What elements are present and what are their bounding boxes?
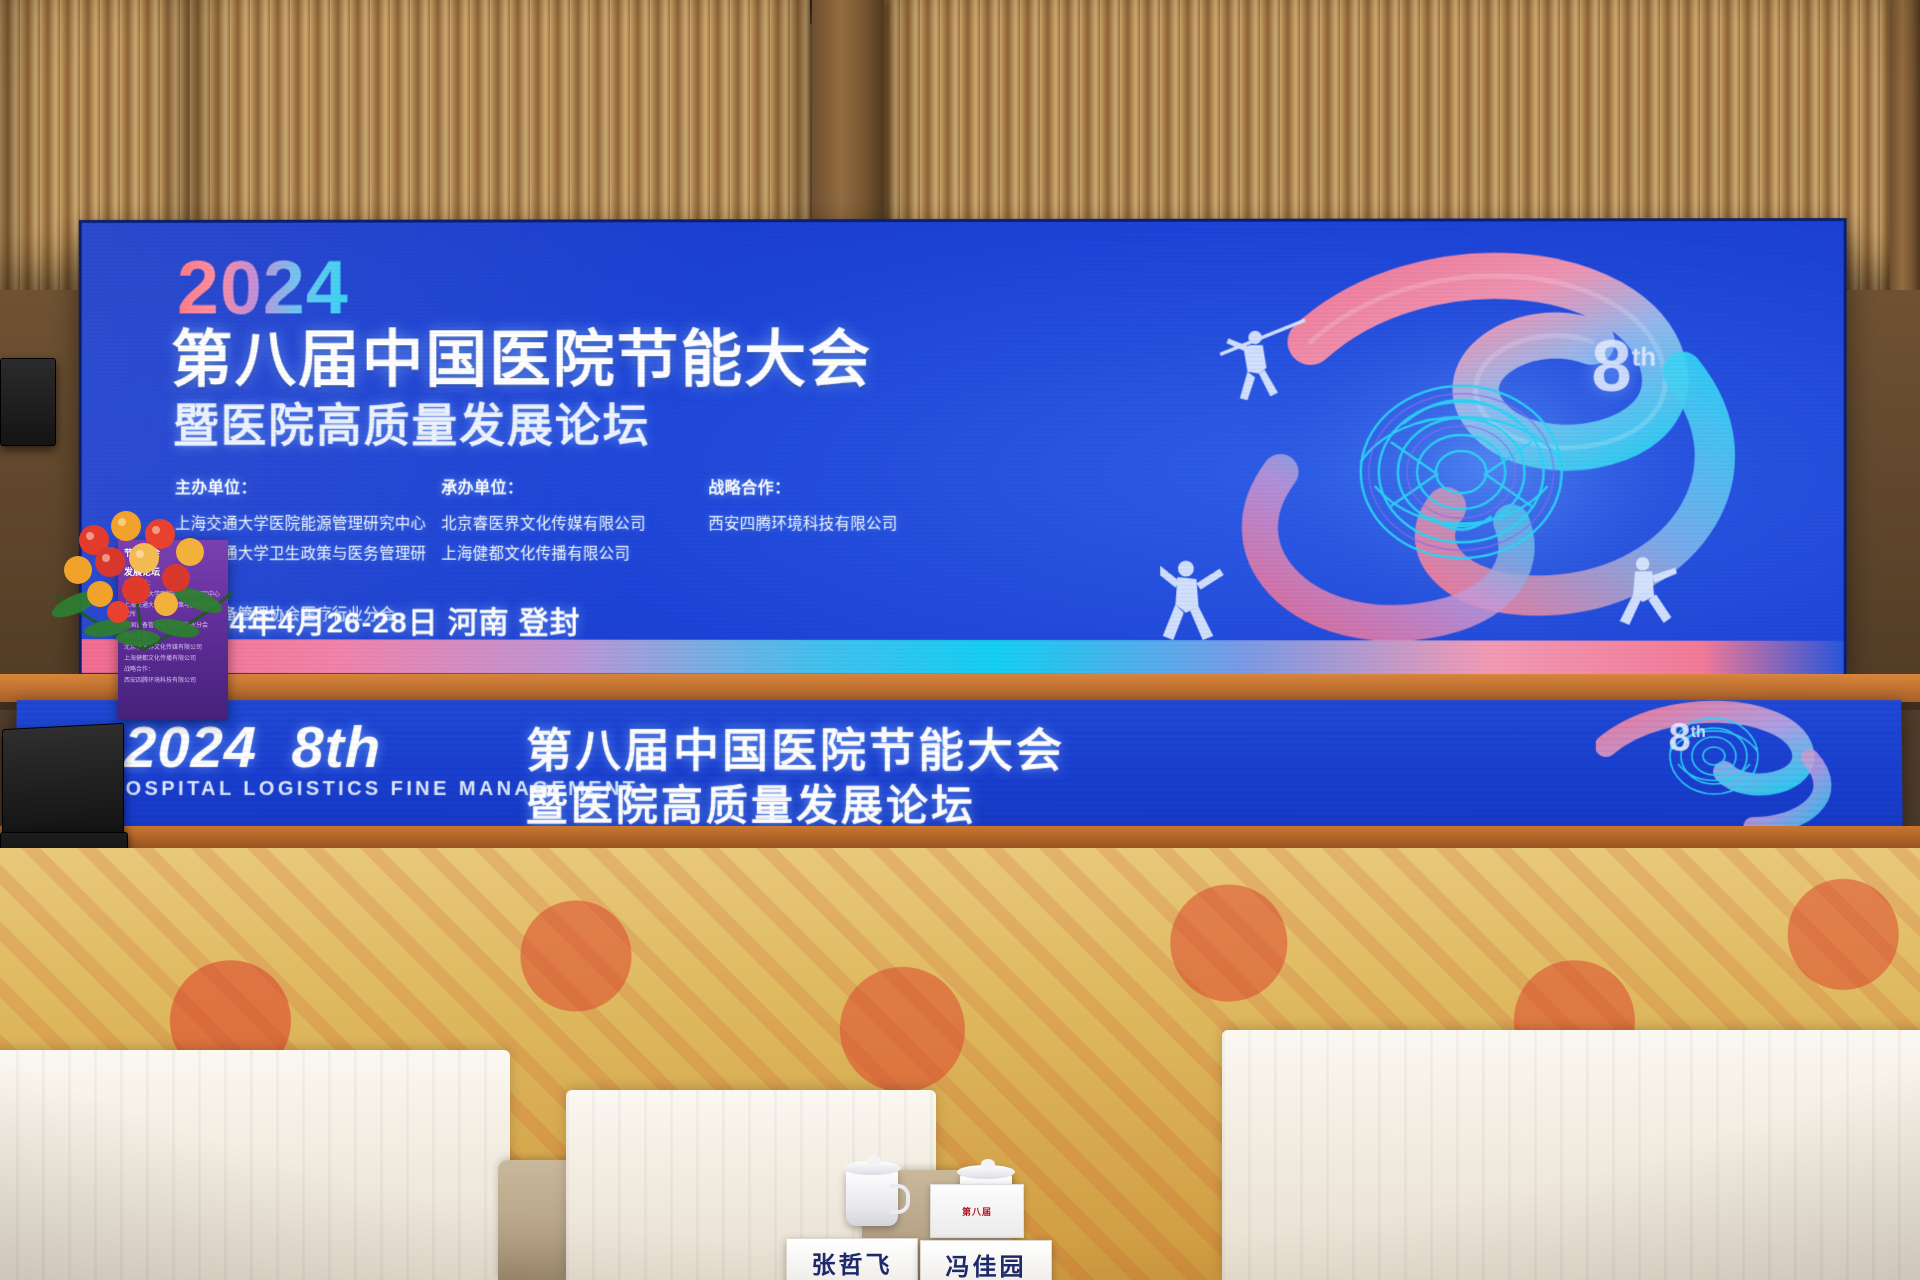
name-card-2-text: 冯佳园 <box>946 1247 1027 1280</box>
skirt-title-line1: 第八届中国医院节能大会 <box>526 714 1065 780</box>
banquet-table-right <box>1222 1030 1920 1280</box>
teacup-knob <box>981 1159 995 1169</box>
speaker-cabinet-wall <box>0 358 56 446</box>
branded-table-card: 第八届 <box>930 1184 1024 1238</box>
teacup-knob <box>867 1155 881 1165</box>
name-card-2: 冯佳园 <box>920 1240 1052 1280</box>
skirt-ribbon-artwork <box>1596 700 1897 830</box>
organizer-column-strategic: 战略合作： 西安四腾环境科技有限公司 <box>708 474 958 631</box>
banquet-table-left <box>0 1050 510 1280</box>
organizer-line: 上海健都文化传播有限公司 <box>441 540 708 570</box>
wall-pillar-right <box>1890 0 1920 300</box>
teacup-left <box>846 1168 898 1226</box>
stage-skirt-banner: 2024 8th HOSPITAL LOGISTICS FINE MANAGEM… <box>15 700 1902 830</box>
screen-bottom-color-band <box>82 639 1844 675</box>
event-year: 2024 <box>177 251 349 327</box>
name-card-1: 张哲飞 <box>786 1238 918 1280</box>
skirt-year: 2024 <box>124 715 258 780</box>
organizer-line: 西安四腾环境科技有限公司 <box>708 510 958 540</box>
skirt-title-line2: 暨医院高质量发展论坛 <box>526 772 976 830</box>
skirt-edition-suffix: th <box>1691 724 1706 741</box>
stage-front-edge <box>0 674 1920 702</box>
branded-table-card-label: 第八届 <box>962 1205 992 1218</box>
event-title-main: 第八届中国医院节能大会 <box>171 330 872 392</box>
organizer-heading-host: 主办单位： <box>175 474 441 498</box>
organizer-line: 北京睿医界文化传媒有限公司 <box>441 510 708 540</box>
conference-stage-photo: 8th 2024 第八届中国医院节能大会 暨医院高质量发展论坛 主办单位： 上海… <box>0 0 1920 1280</box>
organizer-heading-coorganizer: 承办单位： <box>441 474 708 498</box>
skirt-year-edition: 2024 8th <box>124 714 382 781</box>
organizer-heading-strategic: 战略合作： <box>708 474 958 498</box>
skirt-edition-badge: 8th <box>1668 716 1706 761</box>
poster-line: 战略合作： <box>124 666 222 675</box>
skirt-edition-number: 8 <box>1668 716 1691 760</box>
floral-arrangement <box>48 500 238 660</box>
name-card-1-text: 张哲飞 <box>812 1245 893 1280</box>
poster-line: 西安四腾环境科技有限公司 <box>124 677 222 686</box>
event-title-sub: 暨医院高质量发展论坛 <box>173 402 650 448</box>
teacup-handle <box>890 1184 910 1214</box>
edition-suffix: th <box>1632 342 1657 372</box>
skirt-edition: 8th <box>291 715 381 780</box>
ribbon-flower-artwork <box>1160 221 1803 675</box>
led-backdrop-screen: 8th 2024 第八届中国医院节能大会 暨医院高质量发展论坛 主办单位： 上海… <box>82 221 1844 675</box>
wall-panel-right <box>1840 290 1920 690</box>
edition-number-badge: 8th <box>1591 326 1656 408</box>
edition-number: 8 <box>1591 327 1631 407</box>
